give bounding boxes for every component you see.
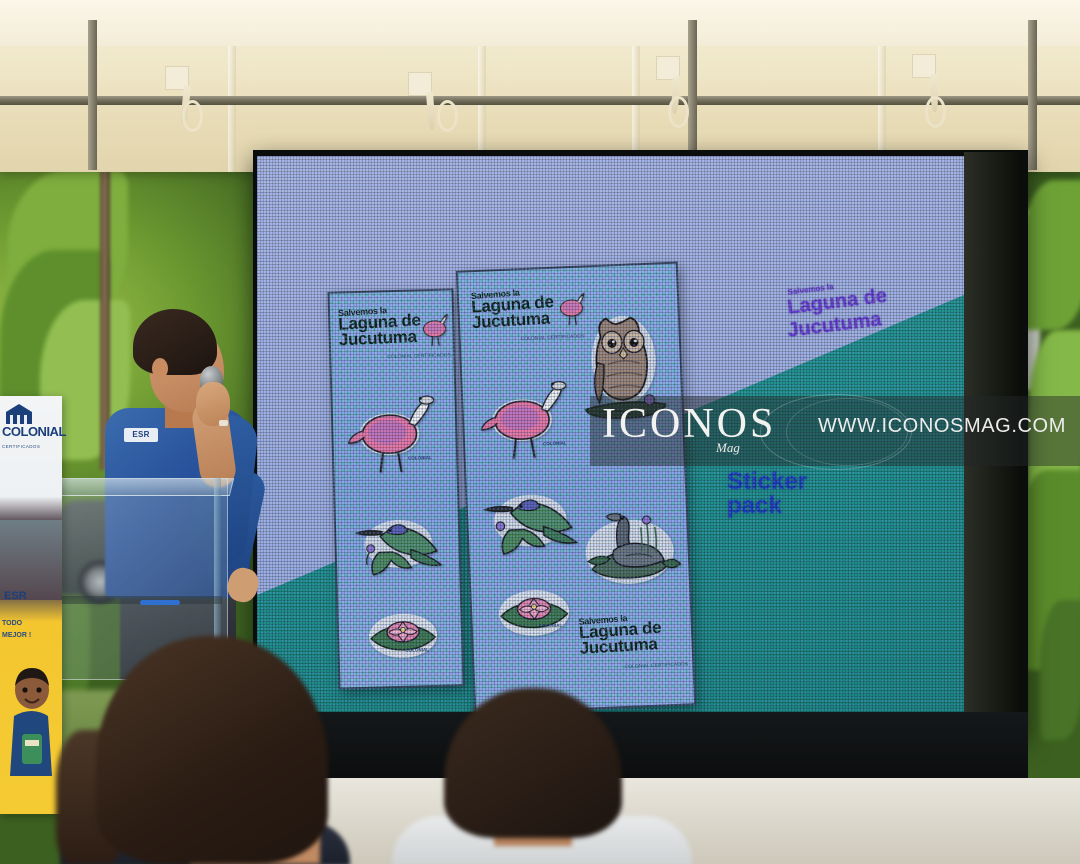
podium-shelf [52, 596, 222, 604]
banner-esr-badge: ESR [4, 590, 27, 602]
sticker-sheet-right: Salvemos la Laguna de Jucutuma COLONIAL … [456, 262, 696, 712]
canopy-support-bar [0, 96, 1080, 105]
sticker-sheet-left: Salvemos la Laguna de Jucutuma COLONIAL … [327, 288, 464, 689]
canopy-tie-loop [668, 96, 689, 128]
canopy-post [88, 20, 97, 170]
podium-pen [140, 600, 180, 605]
duck-in-reeds-sticker [575, 492, 683, 592]
water-lily-sticker [493, 578, 575, 641]
stage-front-panel [253, 712, 1028, 782]
canopy-post [688, 20, 697, 170]
water-lily-sticker [364, 603, 442, 663]
watermark-url[interactable]: WWW.ICONOSMAG.COM [818, 415, 1066, 438]
speaker-ear [152, 358, 168, 379]
foliage-leaf [1040, 600, 1080, 740]
slide-brand-logo: Salvemos la Laguna de Jucutuma [787, 278, 947, 333]
hummingbird-sticker [477, 480, 585, 570]
speaker-wedding-ring [219, 420, 228, 426]
slide-caption: Sticker pack [727, 470, 807, 519]
sticker-label-colonial: COLONIAL [405, 647, 429, 653]
tent-canopy-top-panel [0, 0, 1080, 46]
banner-logo-subtext: CERTIFICADOS [2, 444, 40, 449]
caption-line1: Sticker [727, 470, 807, 494]
banner-photo [0, 520, 62, 600]
roseate-spoonbill-small-icon [418, 308, 453, 349]
foliage-leaf [1020, 180, 1080, 330]
banner-slogan-line1: TODO [2, 620, 22, 627]
sticker-label-colonial: COLONIAL [408, 455, 432, 461]
banner-logo-text: COLONIAL [2, 424, 48, 454]
sticker-label-colonial: COLONIAL [543, 440, 567, 446]
caption-line2: pack [727, 494, 807, 518]
roseate-spoonbill-sticker [346, 387, 444, 476]
canopy-tie-loop [437, 100, 458, 132]
colonial-building-icon [4, 402, 34, 426]
banner-cartoon-character [8, 660, 54, 800]
canopy-tie-loop [182, 100, 203, 132]
canopy-post [1028, 20, 1037, 170]
canopy-seam [228, 46, 236, 172]
roseate-spoonbill-sticker [478, 372, 578, 462]
audience-member-1-head [96, 636, 328, 864]
canopy-tie-loop [925, 96, 946, 128]
watermark-brand: ICONOS [602, 400, 776, 448]
speaker-shirt-esr-badge: ESR [124, 428, 158, 442]
hummingbird-sticker [350, 507, 448, 590]
sticker-label-colonial: COLONIAL [539, 623, 563, 629]
watermark-brand-sub: Mag [716, 440, 740, 456]
banner-slogan-line2: MEJOR ! [2, 632, 31, 639]
screenshot-root: Salvemos la Laguna de Jucutuma Sticker p… [0, 0, 1080, 864]
sheet-right-logo-badge: Salvemos la Laguna de Jucutuma [578, 612, 684, 656]
